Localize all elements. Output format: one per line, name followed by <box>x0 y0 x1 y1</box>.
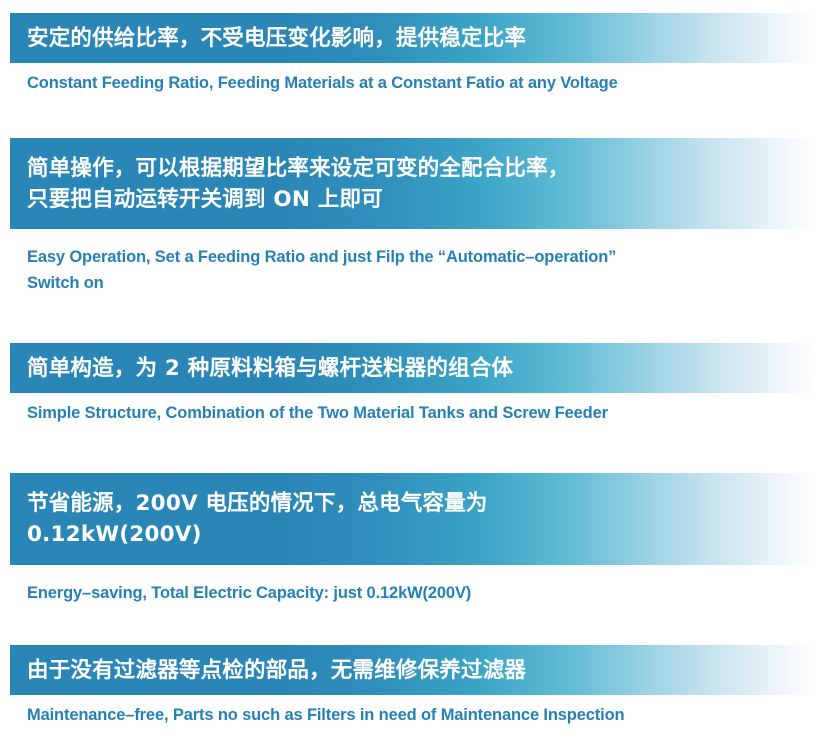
subcaption-line: Switch on <box>27 270 616 296</box>
subcaption-line: Energy–saving, Total Electric Capacity: … <box>27 580 471 606</box>
subcaption-line: Maintenance–free, Parts no such as Filte… <box>27 702 624 728</box>
subcaption: Energy–saving, Total Electric Capacity: … <box>27 580 471 606</box>
headline-line: 0.12kW(200V) <box>27 519 812 550</box>
subcaption: Constant Feeding Ratio, Feeding Material… <box>27 70 618 96</box>
headline-bar: 节省能源，200V 电压的情况下，总电气容量为 0.12kW(200V) <box>10 473 812 565</box>
headline-bar: 安定的供给比率，不受电压变化影响，提供稳定比率 <box>10 13 812 63</box>
headline-line: 简单操作，可以根据期望比率来设定可变的全配合比率， <box>27 153 812 184</box>
subcaption: Simple Structure, Combination of the Two… <box>27 400 608 426</box>
headline-bar: 由于没有过滤器等点检的部品，无需维修保养过滤器 <box>10 645 812 695</box>
headline-line: 简单构造，为 2 种原料料箱与螺杆送料器的组合体 <box>27 353 812 384</box>
subcaption-line: Simple Structure, Combination of the Two… <box>27 400 608 426</box>
headline-line: 节省能源，200V 电压的情况下，总电气容量为 <box>27 488 812 519</box>
headline-bar: 简单操作，可以根据期望比率来设定可变的全配合比率， 只要把自动运转开关调到 ON… <box>10 138 812 229</box>
subcaption: Maintenance–free, Parts no such as Filte… <box>27 702 624 728</box>
headline-line: 只要把自动运转开关调到 ON 上即可 <box>27 184 812 215</box>
subcaption-line: Easy Operation, Set a Feeding Ratio and … <box>27 244 616 270</box>
feature-list-page: 安定的供给比率，不受电压变化影响，提供稳定比率 Constant Feeding… <box>0 0 828 746</box>
subcaption-line: Constant Feeding Ratio, Feeding Material… <box>27 70 618 96</box>
subcaption: Easy Operation, Set a Feeding Ratio and … <box>27 244 616 296</box>
headline-bar: 简单构造，为 2 种原料料箱与螺杆送料器的组合体 <box>10 343 812 393</box>
headline-line: 安定的供给比率，不受电压变化影响，提供稳定比率 <box>27 23 812 54</box>
headline-line: 由于没有过滤器等点检的部品，无需维修保养过滤器 <box>27 655 812 686</box>
